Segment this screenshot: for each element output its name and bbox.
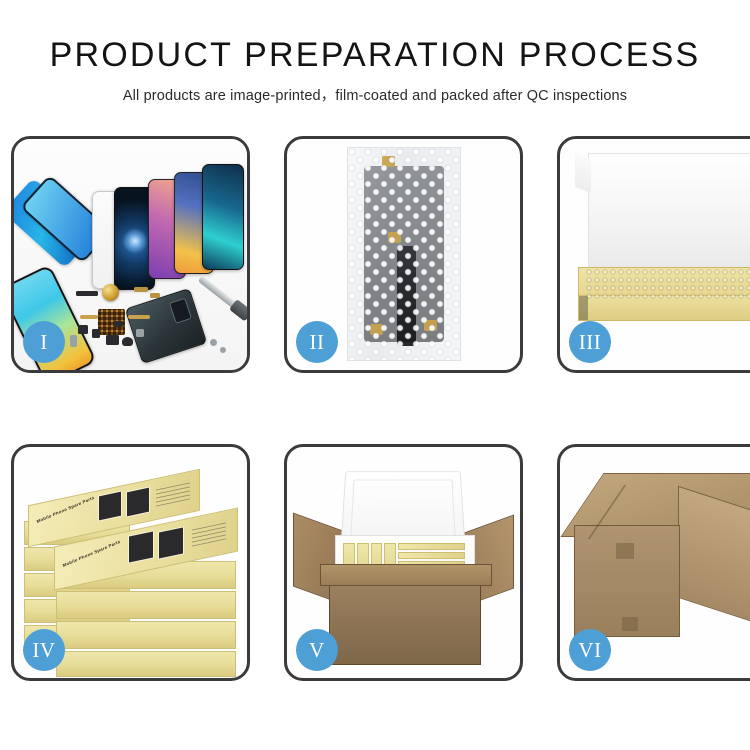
chip-icon — [78, 325, 88, 334]
camera-icon — [122, 337, 133, 346]
panel-bubble-bag[interactable]: II — [284, 136, 523, 373]
page-subtitle: All products are image-printed，film-coat… — [0, 84, 750, 105]
chip-icon — [114, 321, 123, 327]
coil-part-icon — [102, 284, 119, 301]
box-window-icon — [126, 486, 150, 517]
teal-phone-icon — [202, 164, 244, 270]
chip-icon — [150, 293, 160, 298]
bubble-wrap-fill-icon — [586, 269, 750, 299]
chip-icon — [92, 329, 100, 338]
panel-foam-carton[interactable]: V — [284, 444, 523, 681]
box-window-icon — [128, 530, 154, 564]
carton-tape-icon — [622, 617, 638, 631]
step-badge: VI — [569, 629, 611, 671]
carton-side-icon — [678, 486, 750, 632]
plastic-bag-icon — [347, 147, 461, 361]
header: PRODUCT PREPARATION PROCESS All products… — [0, 0, 750, 105]
box-window-icon — [158, 526, 184, 560]
screw-icon — [210, 339, 217, 346]
stacked-box — [56, 651, 236, 677]
panel-sealed-carton[interactable]: VI — [557, 444, 750, 681]
step-badge: II — [296, 321, 338, 363]
connector-icon — [70, 335, 77, 347]
carton-body-icon — [329, 579, 481, 665]
page-title: PRODUCT PREPARATION PROCESS — [0, 38, 750, 74]
panel-spare-parts[interactable]: I — [11, 136, 250, 373]
screw-icon — [220, 347, 226, 353]
chip-icon — [76, 291, 98, 296]
chip-icon — [106, 335, 119, 345]
chip-icon — [136, 329, 144, 337]
process-step-grid: I II — [11, 136, 739, 681]
flex-cable-icon — [80, 315, 98, 319]
panel-inner-box[interactable]: III — [557, 136, 750, 373]
bubble-wrap-texture — [348, 148, 460, 360]
white-box-lid-icon — [588, 153, 750, 277]
step-badge: I — [23, 321, 65, 363]
step-badge: IV — [23, 629, 65, 671]
panel-box-stack[interactable]: Mobile Phone Spare Parts Mobile Phone Sp… — [11, 444, 250, 681]
flex-cable-icon — [128, 315, 150, 319]
product-preparation-infographic: PRODUCT PREPARATION PROCESS All products… — [0, 0, 750, 750]
step-badge: III — [569, 321, 611, 363]
stacked-box — [56, 621, 236, 649]
step-badge: V — [296, 629, 338, 671]
carton-tape-icon — [616, 543, 634, 559]
chip-icon — [134, 287, 148, 292]
box-window-icon — [98, 490, 122, 521]
stacked-box — [56, 591, 236, 619]
